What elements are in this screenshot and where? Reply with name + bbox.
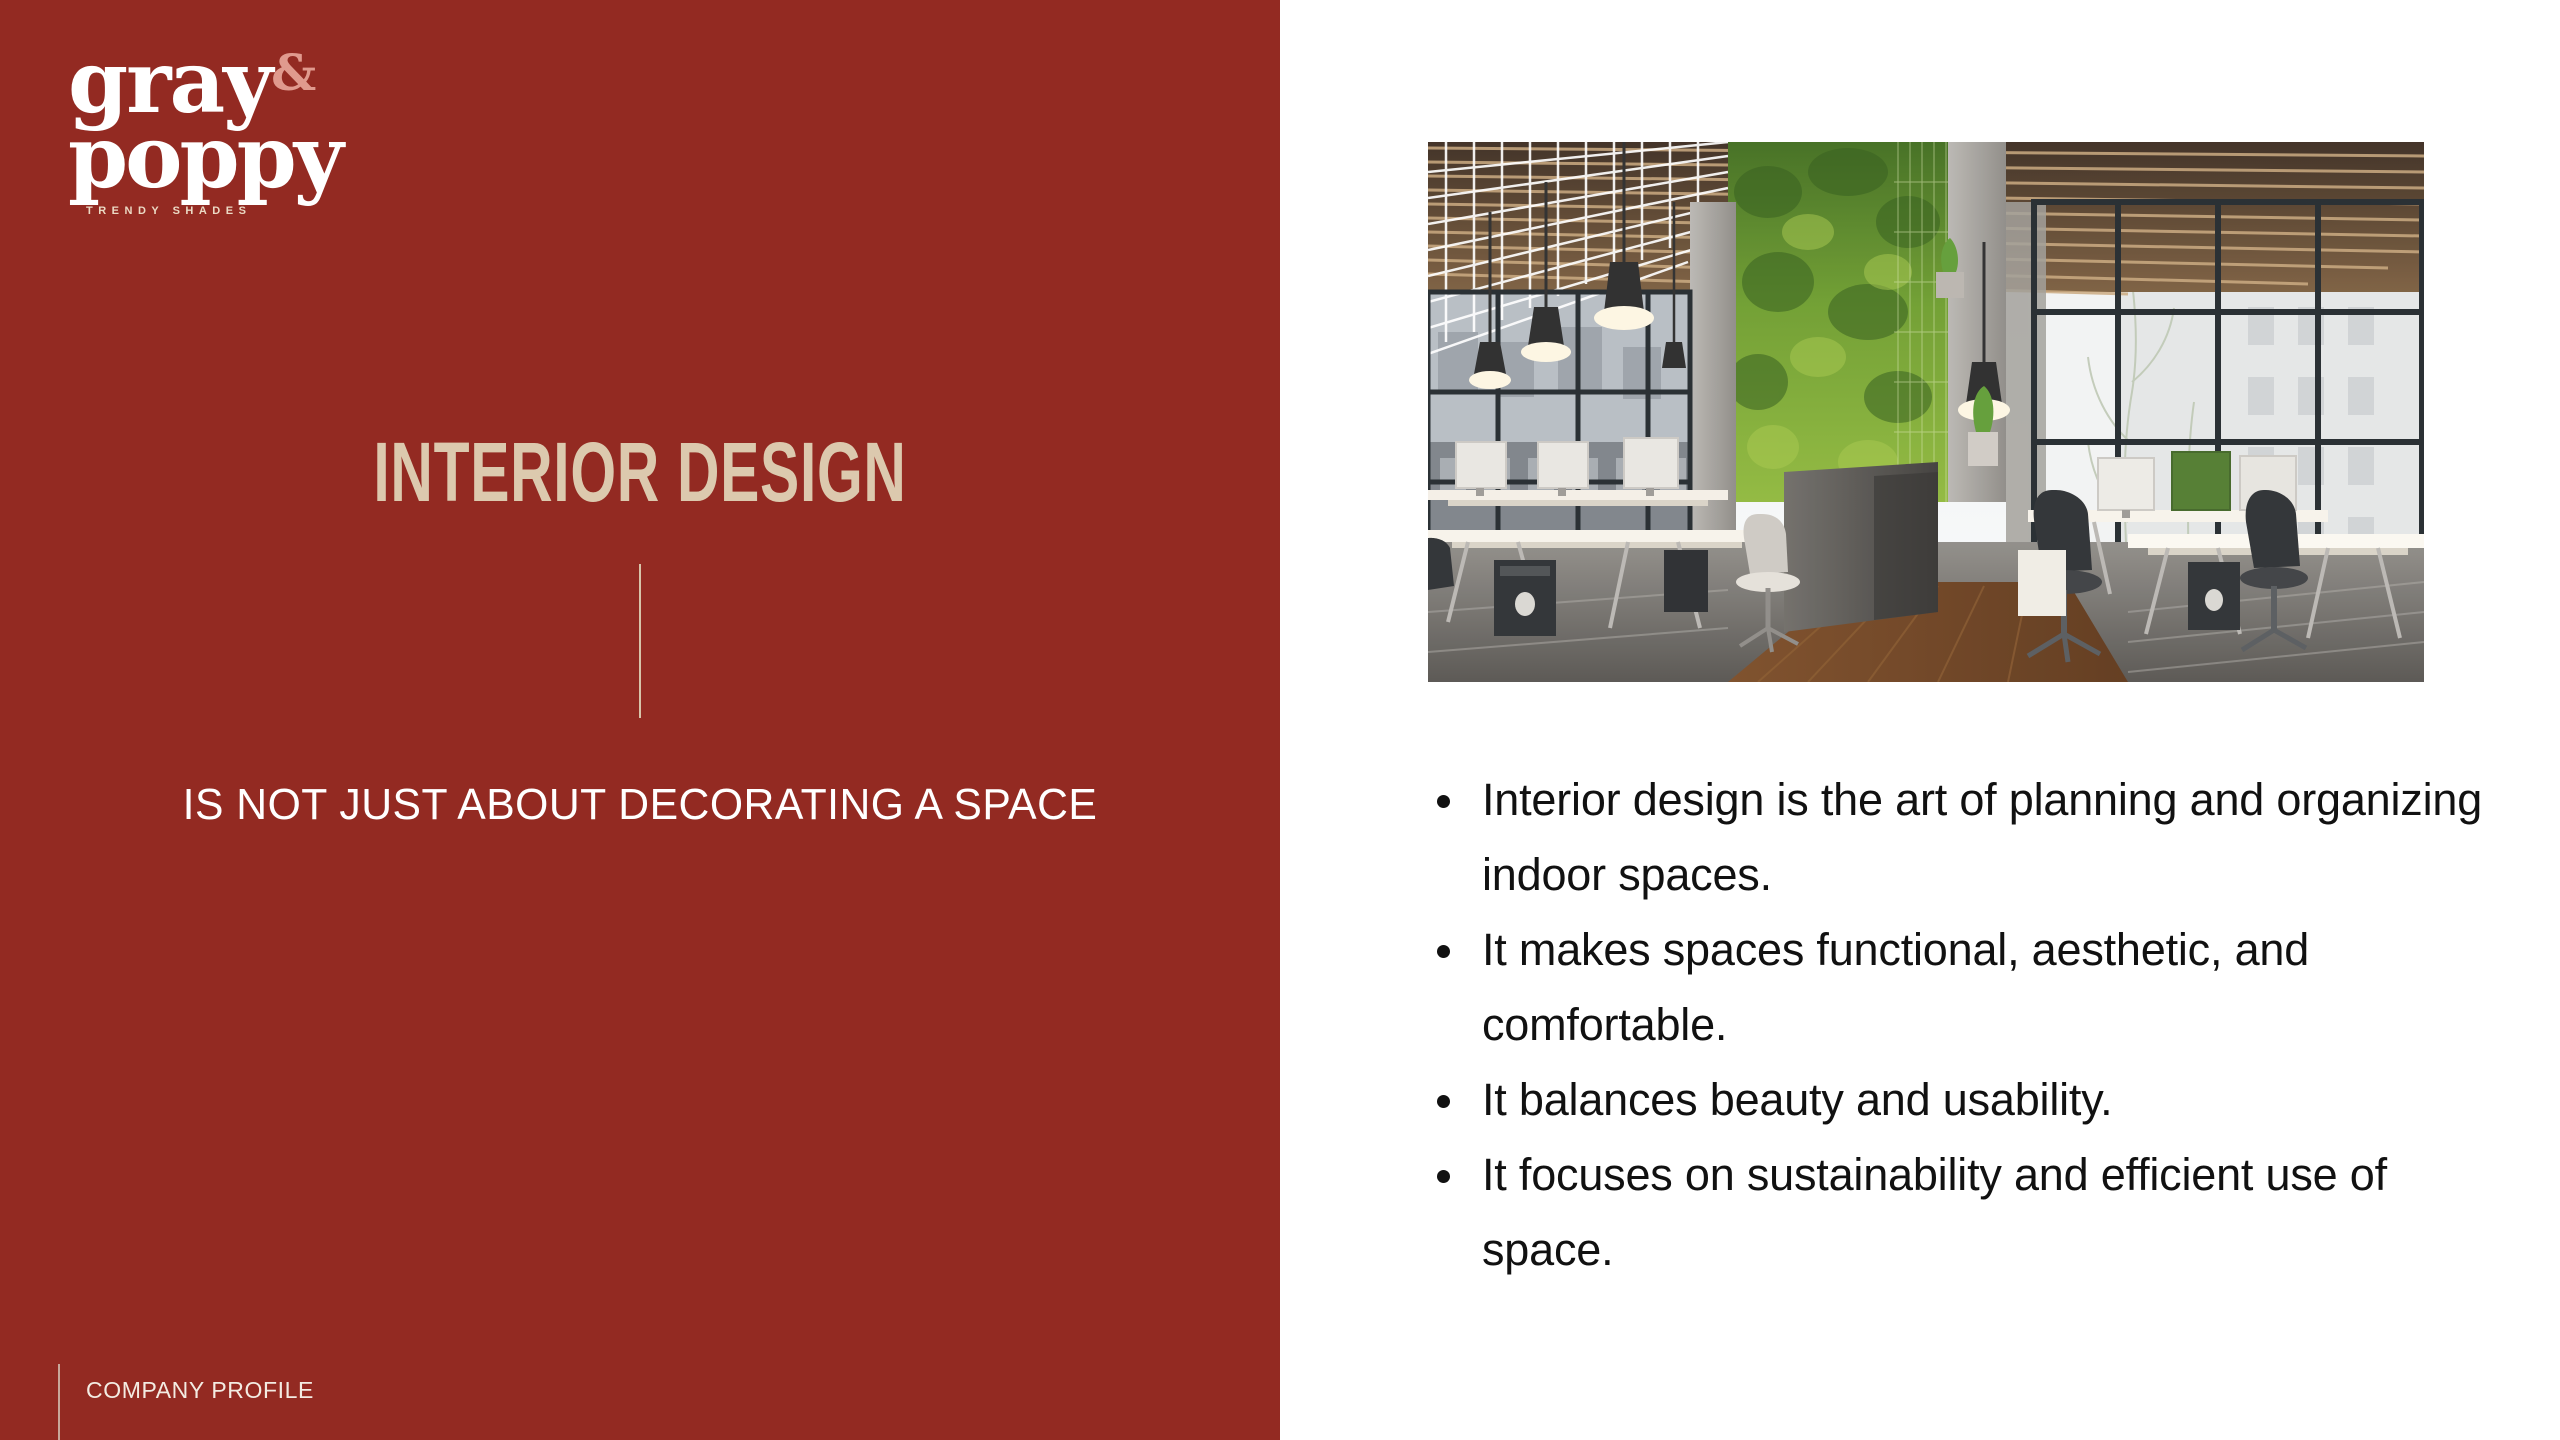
list-item: It balances beauty and usability.: [1420, 1062, 2490, 1137]
list-item: It makes spaces functional, aesthetic, a…: [1420, 912, 2490, 1062]
footer-label: COMPANY PROFILE: [86, 1377, 314, 1404]
slide: gray& poppy TRENDY SHADES INTERIOR DESIG…: [0, 0, 2560, 1440]
logo-word-poppy: poppy: [68, 121, 388, 195]
logo-tagline: TRENDY SHADES: [86, 205, 388, 217]
title-divider: [639, 564, 641, 718]
page-title: INTERIOR DESIGN: [192, 430, 1088, 514]
list-item: It focuses on sustainability and efficie…: [1420, 1137, 2490, 1287]
list-item-text: Interior design is the art of planning a…: [1482, 774, 2482, 900]
list-item-text: It focuses on sustainability and efficie…: [1482, 1149, 2387, 1275]
bullet-dot-icon: [1437, 1095, 1450, 1108]
page-subtitle: IS NOT JUST ABOUT DECORATING A SPACE: [19, 780, 1261, 830]
bullet-dot-icon: [1437, 945, 1450, 958]
footer-divider: [58, 1364, 60, 1440]
bullet-list: Interior design is the art of planning a…: [1420, 762, 2490, 1287]
office-interior-photo: [1428, 142, 2424, 682]
office-interior-illustration: [1428, 142, 2424, 682]
bullet-dot-icon: [1437, 795, 1450, 808]
right-white-panel: Interior design is the art of planning a…: [1280, 0, 2560, 1440]
logo-ampersand: &: [271, 43, 316, 102]
brand-logo: gray& poppy TRENDY SHADES: [68, 48, 388, 217]
footer: COMPANY PROFILE: [58, 1364, 314, 1440]
list-item: Interior design is the art of planning a…: [1420, 762, 2490, 912]
title-group: INTERIOR DESIGN IS NOT JUST ABOUT DECORA…: [0, 430, 1280, 830]
left-red-panel: gray& poppy TRENDY SHADES INTERIOR DESIG…: [0, 0, 1280, 1440]
list-item-text: It balances beauty and usability.: [1482, 1074, 2112, 1125]
list-item-text: It makes spaces functional, aesthetic, a…: [1482, 924, 2309, 1050]
bullet-dot-icon: [1437, 1170, 1450, 1183]
